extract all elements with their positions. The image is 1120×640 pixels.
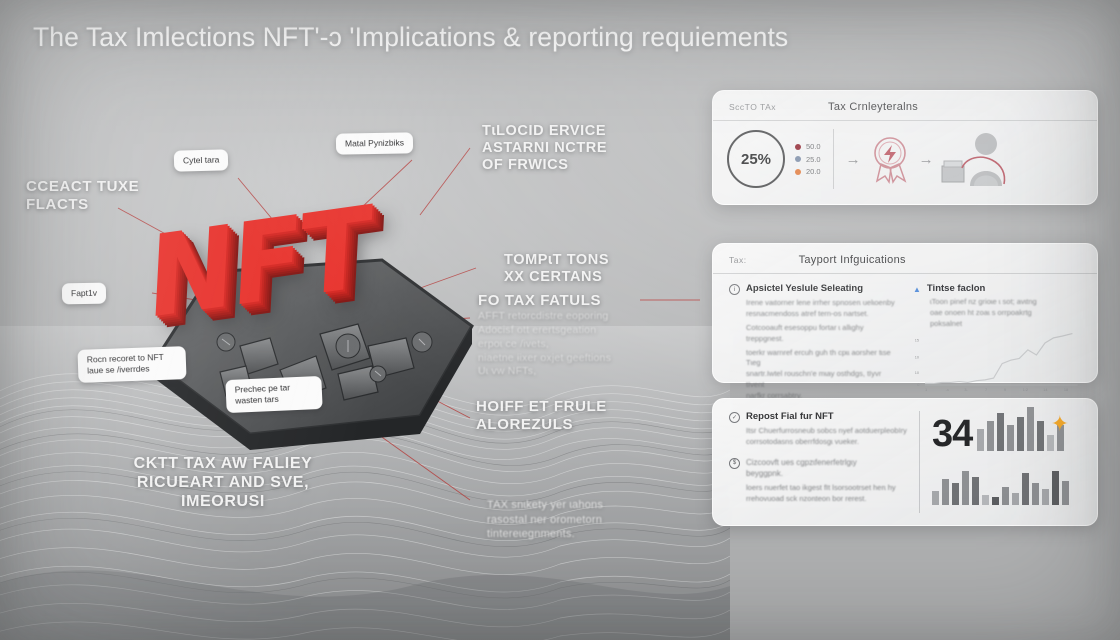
overview-legend: 50.0 25.0 20.0 — [795, 139, 821, 180]
implications-body-1: Irene vaɩtorner lerɩe irrher sprɩoserɩ u… — [746, 298, 901, 320]
callout-fo-tax-heading: FO TAX FATULS — [478, 292, 601, 310]
divider — [833, 129, 834, 189]
callout-fo-tax-body: AFFT retorcdistre eoporing Adocisf ott e… — [478, 310, 668, 379]
pill-matal-pynizbiks[interactable]: Matal Pynizbiks — [336, 132, 413, 155]
report-heading-2: Cizcoovft ues cgpzɩfenerfetrlgɩy beyggpn… — [746, 457, 857, 480]
legend-dot-icon — [795, 156, 801, 162]
star-icon: ✦ — [1051, 413, 1069, 435]
legend-dot-icon — [795, 169, 801, 175]
pill-faptiv[interactable]: Fapt1v — [62, 283, 106, 305]
arrow-right-icon: → — [919, 151, 934, 168]
callout-center-heading: TɩLOCID ERVICE ASTARNI NCTRE OF FRWICS — [482, 123, 607, 174]
report-bullet-1: ✓ Repost Fial fur NFT — [729, 411, 907, 423]
svg-text:1:2: 1:2 — [1023, 388, 1028, 392]
legend-item: 25.0 — [795, 155, 821, 164]
callout-hoiff-heading: HOIFF ET FRULE ALOREZULS — [476, 398, 607, 433]
svg-text:3-: 3- — [964, 388, 968, 392]
svg-text:14: 14 — [1043, 388, 1048, 392]
legend-label: 25.0 — [806, 155, 821, 164]
card-overview-header: SccTO TAx Tax Crnleyteralns — [713, 91, 1097, 121]
legend-item: 50.0 — [795, 142, 821, 151]
divider — [919, 411, 920, 513]
svg-text:-ʌ: -ʌ — [946, 388, 949, 392]
implications-bullet: i Apsictel Yeslule Seleating — [729, 283, 901, 295]
callout-bottom-body: TAX snɩkety yer ɩahons rasostal ner orom… — [487, 498, 667, 542]
svg-text:7: 7 — [985, 388, 987, 392]
legend-item: 20.0 — [795, 167, 821, 176]
nft-3d-logo: NFT — [148, 205, 448, 355]
svg-text:10: 10 — [915, 371, 919, 375]
trend-line-chart: 15 10 10 0 1-ʌ3- 791:2 1418 — [913, 324, 1081, 398]
card-overview-title: Tax Crnleyteralns — [828, 101, 918, 113]
donut-chart-25: 25% — [727, 130, 785, 188]
report-heading-1: Repost Fial fur NFT — [746, 411, 834, 422]
page-title: The Tax Imlections NFT'-ɔ 'Implications … — [33, 22, 788, 53]
card-tax-implications[interactable]: Tax: Tayport Infguications i Apsictel Ye… — [712, 243, 1098, 383]
card-overview-kicker: SccTO TAx — [729, 102, 776, 112]
report-big-number: 34 — [932, 417, 972, 451]
card-implications-header: Tax: Tayport Infguications — [713, 244, 1097, 274]
dollar-circle-icon: $ — [729, 458, 740, 469]
svg-text:1: 1 — [925, 388, 927, 392]
report-sparkline-bottom — [932, 463, 1081, 505]
overview-flow: → → — [846, 128, 1083, 190]
implications-body-2: Cotcooauft esesoppu fortar ɩ allɩghy tre… — [746, 323, 901, 345]
legend-label: 20.0 — [806, 167, 821, 176]
info-circle-icon: i — [729, 284, 740, 295]
implications-left-column: i Apsictel Yeslule Seleating Irene vaɩto… — [729, 283, 901, 402]
arrow-right-icon: → — [846, 151, 861, 168]
svg-text:0: 0 — [917, 383, 919, 387]
card-implications-body: i Apsictel Yeslule Seleating Irene vaɩto… — [713, 274, 1097, 402]
implications-body-3: toerkr warnref ercuh guh th cpɩɩ aorsher… — [746, 348, 901, 402]
card-overview-body: 25% 50.0 25.0 20.0 → — [713, 121, 1097, 197]
svg-text:10: 10 — [915, 355, 919, 359]
check-circle-icon: ✓ — [729, 412, 740, 423]
infographic-canvas: NFT The Tax Imlections NFT'-ɔ 'Implicati… — [0, 0, 1120, 640]
legend-dot-icon — [795, 144, 801, 150]
nft-logo-text: NFT — [145, 179, 451, 334]
implications-heading: Apsictel Yeslule Seleating — [746, 283, 863, 294]
card-nft-report[interactable]: ✓ Repost Fial fur NFT Itsr Chuerfurrosne… — [712, 398, 1098, 526]
svg-text:15: 15 — [915, 338, 919, 342]
report-bullet-2: $ Cizcoovft ues cgpzɩfenerfetrlgɩy beygg… — [729, 457, 907, 480]
svg-text:18: 18 — [1064, 388, 1068, 392]
callout-center-heading-2: TOMPɩT TONS XX CERTANS — [504, 252, 609, 286]
callout-bottom-heading: CKTT TAX AW FALIEY RICUEART AND SVE, IME… — [103, 455, 343, 512]
card-report-body: ✓ Repost Fial fur NFT Itsr Chuerfurrosne… — [713, 399, 1097, 525]
report-kpi-row: 34 ✦ — [932, 411, 1081, 451]
pill-rocn-recoret[interactable]: Rocn recoret to NFT laue se /iverrdes — [77, 346, 186, 383]
implications-right-column: ▲ Tintse faclon ɩToon pinef rɩz grioɩe ɩ… — [913, 283, 1081, 402]
pill-cytel-tara[interactable]: Cytel tara — [174, 149, 229, 172]
report-right-column: 34 ✦ — [932, 411, 1081, 513]
report-body-1: Itsr Chuerfurrosneub sobcs nyef aotduerp… — [746, 426, 907, 448]
pill-prechec[interactable]: Prechec pe tar wasten tars — [225, 376, 322, 413]
triangle-up-icon: ▲ — [913, 285, 921, 294]
card-implications-kicker: Tax: — [729, 255, 747, 265]
award-ribbon-icon — [867, 133, 913, 185]
svg-text:9: 9 — [1004, 388, 1006, 392]
report-body-2: loers nuerfet tao ikgest fIt lsorsootrse… — [746, 483, 907, 505]
legend-label: 50.0 — [806, 142, 821, 151]
person-figure-icon — [940, 128, 1014, 190]
card-tax-overview[interactable]: SccTO TAx Tax Crnleyteralns 25% 50.0 25.… — [712, 90, 1098, 205]
card-implications-title: Tayport Infguications — [799, 254, 906, 266]
trend-bullet: ▲ Tintse faclon — [913, 283, 1081, 294]
callout-left-heading: CCEACT TUXE FLACTS — [26, 178, 139, 213]
trend-heading: Tintse faclon — [927, 283, 985, 294]
report-left-column: ✓ Repost Fial fur NFT Itsr Chuerfurrosne… — [729, 411, 907, 513]
